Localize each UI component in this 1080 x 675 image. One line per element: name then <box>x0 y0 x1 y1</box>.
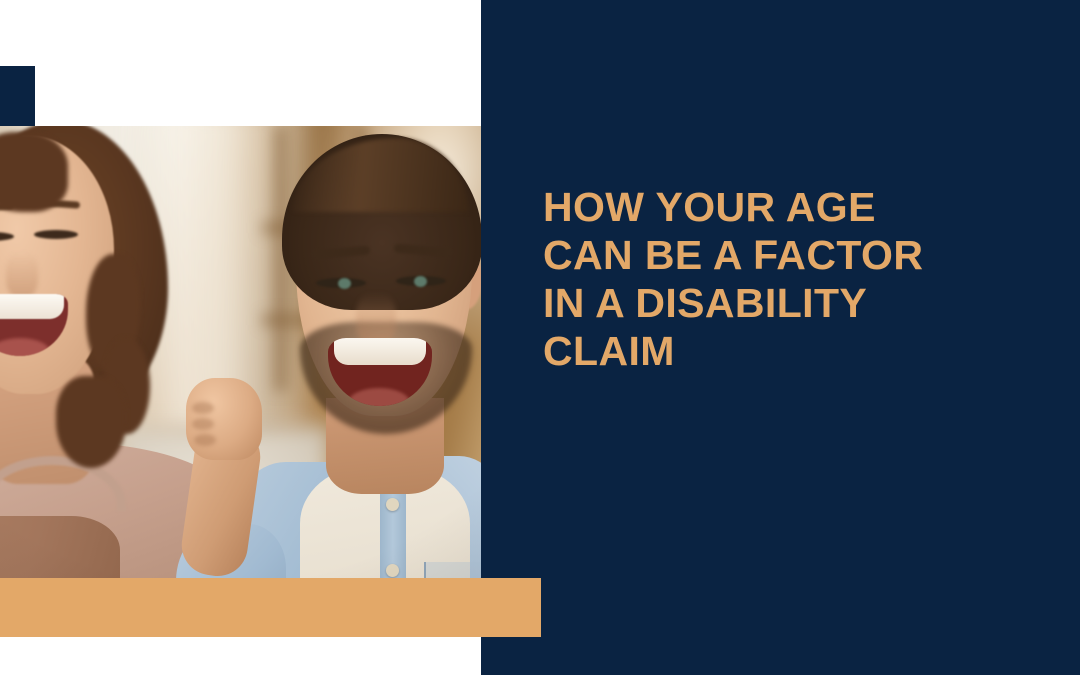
headline-line-1: HOW YOUR AGE <box>543 183 1080 231</box>
headline-line-2: CAN BE A FACTOR <box>543 231 1080 279</box>
navy-accent-square <box>0 66 35 126</box>
headline-line-4: CLAIM <box>543 327 1080 375</box>
hero-photo <box>0 126 481 580</box>
headline: HOW YOUR AGE CAN BE A FACTOR IN A DISABI… <box>543 183 1080 375</box>
headline-line-3: IN A DISABILITY <box>543 279 1080 327</box>
blog-header-graphic: HOW YOUR AGE CAN BE A FACTOR IN A DISABI… <box>0 0 1080 675</box>
photo-vignette <box>0 126 481 580</box>
gold-accent-bar <box>0 578 541 637</box>
